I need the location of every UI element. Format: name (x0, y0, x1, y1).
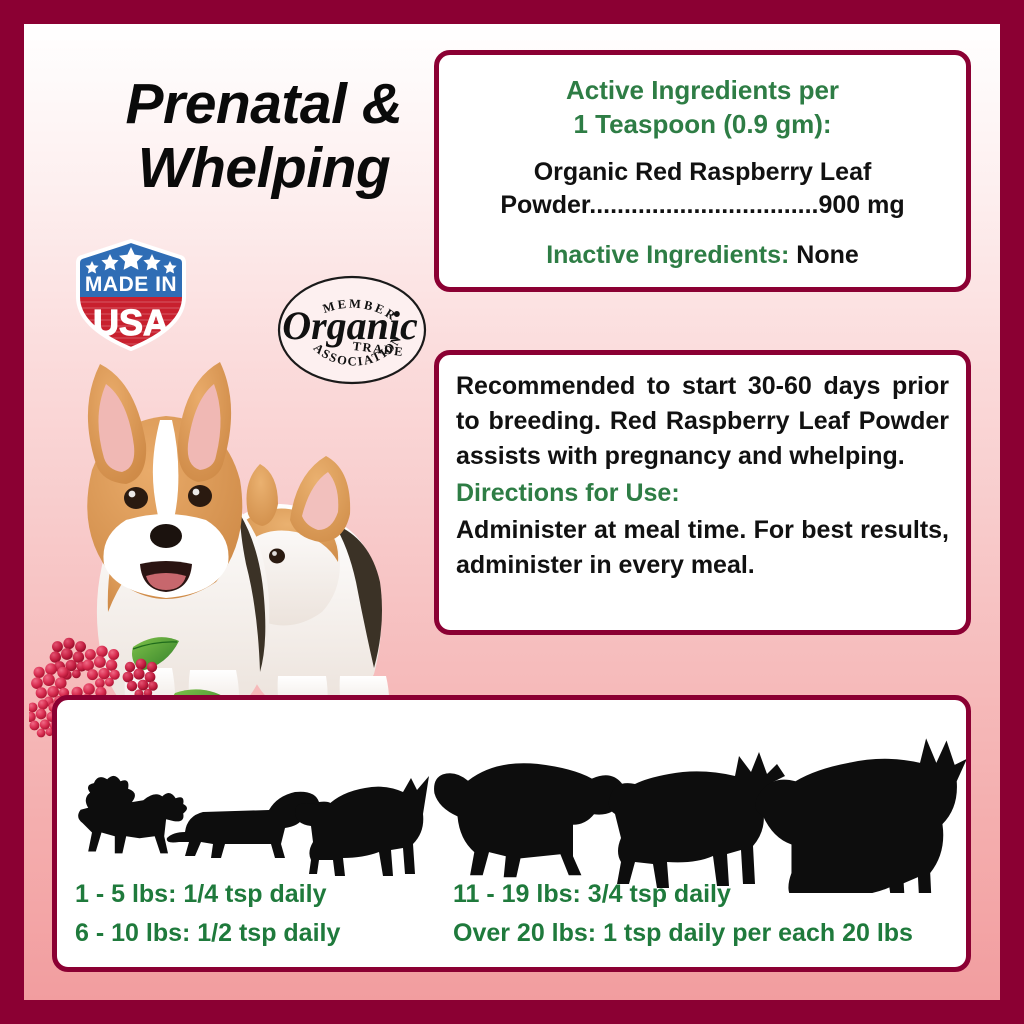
ingredients-heading-line-1: Active Ingredients per (457, 73, 948, 107)
active-ingredients-panel: Active Ingredients per 1 Teaspoon (0.9 g… (434, 50, 971, 292)
spaniel-silhouette (434, 763, 626, 877)
administration-instructions: Administer at meal time. For best result… (456, 513, 949, 583)
great-dane-silhouette (755, 738, 966, 893)
shiba-inu-silhouette (295, 776, 429, 876)
page-title: Prenatal & Whelping (84, 72, 444, 201)
active-ingredient-name: Organic Red Raspberry Leaf (534, 158, 872, 186)
dosage-row-2-right: Over 20 lbs: 1 tsp daily per each 20 lbs (453, 917, 956, 950)
inactive-ingredients-row: Inactive Ingredients: None (457, 241, 948, 270)
dog-size-silhouettes (57, 708, 966, 893)
ingredients-heading: Active Ingredients per 1 Teaspoon (0.9 g… (457, 73, 948, 142)
product-label: Prenatal & Whelping (0, 0, 1024, 1024)
directions-panel: Recommended to start 30-60 days prior to… (434, 350, 971, 635)
title-line-2: Whelping (84, 136, 444, 200)
label-inner-panel: Prenatal & Whelping (24, 24, 1000, 1000)
dosage-row-1-right: 11 - 19 lbs: 3/4 tsp daily (453, 878, 956, 911)
usage-description: Recommended to start 30-60 days prior to… (456, 369, 949, 474)
directions-heading: Directions for Use: (456, 476, 949, 511)
inactive-ingredients-label: Inactive Ingredients: (546, 241, 789, 269)
dosage-row-1-left: 1 - 5 lbs: 1/4 tsp daily (75, 878, 453, 911)
dosage-chart-panel: 1 - 5 lbs: 1/4 tsp daily 11 - 19 lbs: 3/… (52, 695, 971, 972)
dosage-row-2-left: 6 - 10 lbs: 1/2 tsp daily (75, 917, 453, 950)
active-ingredient-amount: Powder.................................9… (457, 189, 948, 223)
boxer-silhouette (609, 752, 785, 888)
svg-text:MADE IN: MADE IN (85, 273, 177, 296)
active-ingredient-entry: Organic Red Raspberry Leaf Powder.......… (457, 156, 948, 224)
title-line-1: Prenatal & (84, 72, 444, 136)
dosage-table: 1 - 5 lbs: 1/4 tsp daily 11 - 19 lbs: 3/… (75, 878, 956, 949)
ingredients-heading-line-2: 1 Teaspoon (0.9 gm): (457, 107, 948, 141)
inactive-ingredients-value: None (796, 241, 859, 269)
